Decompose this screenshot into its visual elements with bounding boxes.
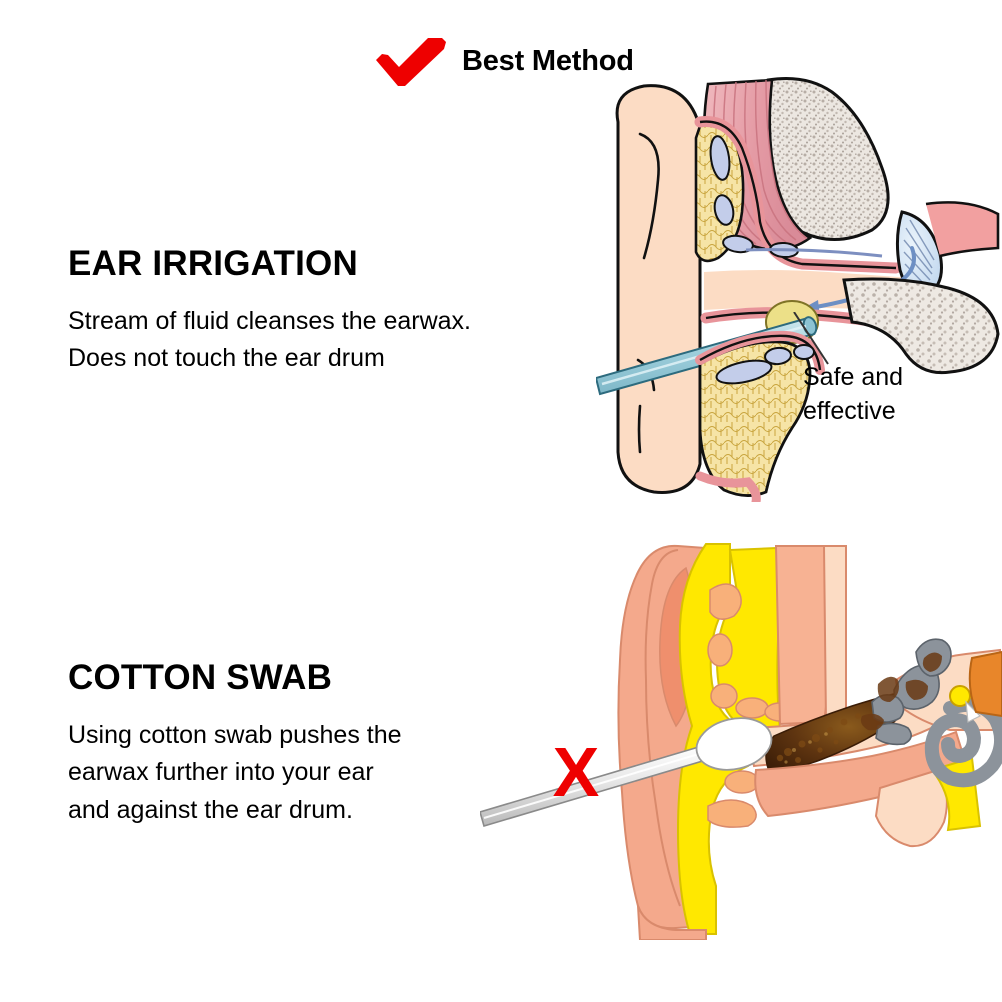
check-mark-icon [372,36,452,88]
annotation-line-1: Safe and [803,360,903,394]
pinna-shape [617,86,700,493]
x-mark-icon: X [548,736,604,808]
ear-irrigation-body-line-1: Stream of fluid cleanses the earwax. [68,303,471,341]
best-method-badge: Best Method [372,36,634,88]
ear-irrigation-text-block: EAR IRRIGATION Stream of fluid cleanses … [68,246,471,378]
eustachian-tube [970,652,1002,716]
annotation-line-2: effective [803,394,903,428]
ear-irrigation-heading: EAR IRRIGATION [68,246,471,283]
cotton-swab-heading: COTTON SWAB [68,660,402,697]
cotton-swab-body-line-2: earwax further into your ear [68,754,402,792]
ear-irrigation-body-line-2: Does not touch the ear drum [68,340,471,378]
infographic-root: Best Method EAR IRRIGATION Stream of flu… [0,0,1002,1002]
cotton-swab-body-line-3: and against the ear drum. [68,792,402,830]
cotton-swab-body-line-1: Using cotton swab pushes the [68,717,402,755]
ear-irrigation-anatomy-figure [596,72,1002,502]
cotton-swab-text-block: COTTON SWAB Using cotton swab pushes the… [68,660,402,829]
temporal-bone-lower [844,279,998,373]
safe-and-effective-annotation: Safe and effective [803,360,903,428]
